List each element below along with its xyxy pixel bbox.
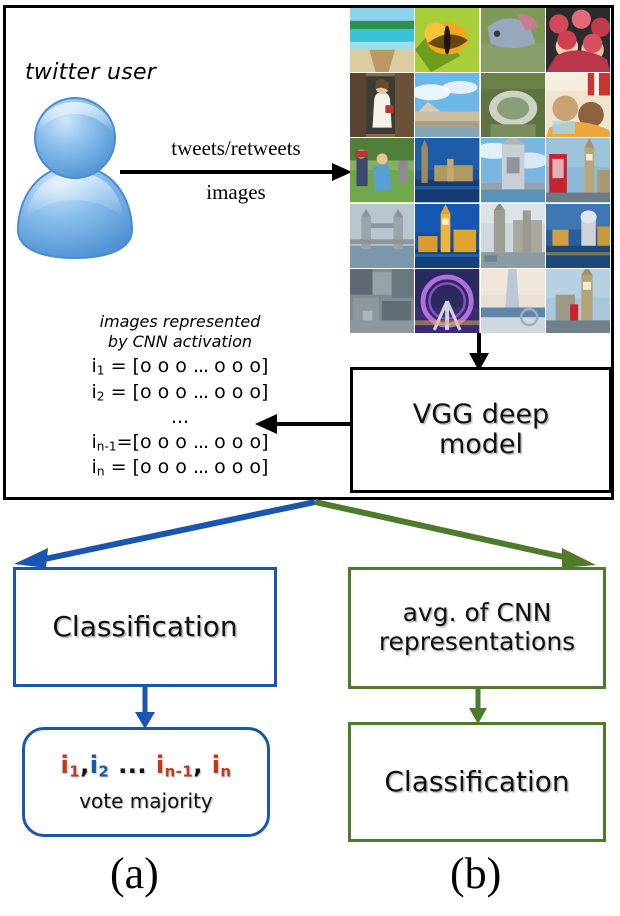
tweets-flow-arrow: tweets/retweets images xyxy=(120,136,352,210)
collage-cell xyxy=(546,8,610,72)
arrow-down-icon xyxy=(466,333,492,371)
collage-cell xyxy=(350,73,414,137)
collage-cell xyxy=(481,138,545,202)
collage-cell xyxy=(415,269,479,333)
collage-cell xyxy=(481,204,545,268)
arrow-diagonal-left-icon xyxy=(14,502,315,568)
arrow-right-icon xyxy=(120,162,352,182)
caption-a: (a) xyxy=(110,852,159,896)
vgg-model-label: VGG deep model xyxy=(413,400,549,460)
activation-row-ellipsis: ... xyxy=(62,405,298,430)
vgg-model-box: VGG deep model xyxy=(350,367,612,493)
activation-row-vector: [o o o ... o o o] xyxy=(133,431,269,453)
activations-block: images represented by CNN activation i1 … xyxy=(62,312,298,481)
activation-row-eq: = xyxy=(105,355,133,377)
collage-cell xyxy=(546,73,610,137)
activations-caption: images represented by CNN activation xyxy=(62,312,298,351)
collage-cell xyxy=(481,73,545,137)
activation-row: in-1=[o o o ... o o o] xyxy=(62,430,298,455)
collage-cell xyxy=(415,204,479,268)
vote-majority-box: i1,i2 ... in-1, in vote majority xyxy=(22,727,270,837)
activation-row-sub: 2 xyxy=(97,389,105,403)
collage-cell xyxy=(546,138,610,202)
activation-row-vector: [o o o ... o o o] xyxy=(133,456,269,478)
collage-cell xyxy=(415,138,479,202)
caption-b: (b) xyxy=(450,852,501,896)
activation-row: in = [o o o ... o o o] xyxy=(62,455,298,480)
arrow-down-icon xyxy=(466,688,490,724)
classification-b-label: Classification xyxy=(384,767,569,798)
person-avatar-icon xyxy=(14,94,136,264)
collage-cell xyxy=(350,8,414,72)
activation-row-sub: n-1 xyxy=(97,439,117,453)
classification-box-a: Classification xyxy=(13,567,277,687)
activation-row-vector: [o o o ... o o o] xyxy=(133,355,269,377)
activation-row-eq: = xyxy=(105,381,133,403)
twitter-user-label: twitter user xyxy=(25,60,156,85)
activation-row: i2 = [o o o ... o o o] xyxy=(62,380,298,405)
collage-cell xyxy=(415,73,479,137)
tweets-arrow-label-line2: images xyxy=(120,180,352,205)
avg-cnn-label: avg. of CNN representations xyxy=(379,599,575,657)
classification-box-b: Classification xyxy=(348,722,606,842)
activation-row-vector: [o o o ... o o o] xyxy=(133,381,269,403)
activation-row-sub: n xyxy=(97,465,105,479)
activation-row-eq: = xyxy=(117,431,133,453)
activation-row-sub: 1 xyxy=(97,364,105,378)
photo-collage-icon xyxy=(350,8,610,333)
vote-formula: i1,i2 ... in-1, in xyxy=(60,751,231,780)
collage-cell xyxy=(415,8,479,72)
arrow-down-icon xyxy=(133,686,157,729)
activations-rows: i1 = [o o o ... o o o] i2 = [o o o ... o… xyxy=(62,354,298,481)
collage-cell xyxy=(546,204,610,268)
tweets-arrow-label-line1: tweets/retweets xyxy=(120,136,352,161)
collage-cell xyxy=(481,269,545,333)
collage-cell xyxy=(481,8,545,72)
collage-cell xyxy=(546,269,610,333)
branch-arrows xyxy=(0,498,620,574)
collage-cell xyxy=(350,269,414,333)
collage-cell xyxy=(350,138,414,202)
arrow-diagonal-right-icon xyxy=(315,502,596,568)
activation-row-eq: = xyxy=(105,456,133,478)
classification-a-label: Classification xyxy=(52,612,237,643)
avg-cnn-representations-box: avg. of CNN representations xyxy=(348,567,606,689)
vote-majority-label: vote majority xyxy=(79,789,213,813)
diagram-canvas: twitter user xyxy=(0,0,620,916)
activation-row: i1 = [o o o ... o o o] xyxy=(62,354,298,379)
collage-cell xyxy=(350,204,414,268)
